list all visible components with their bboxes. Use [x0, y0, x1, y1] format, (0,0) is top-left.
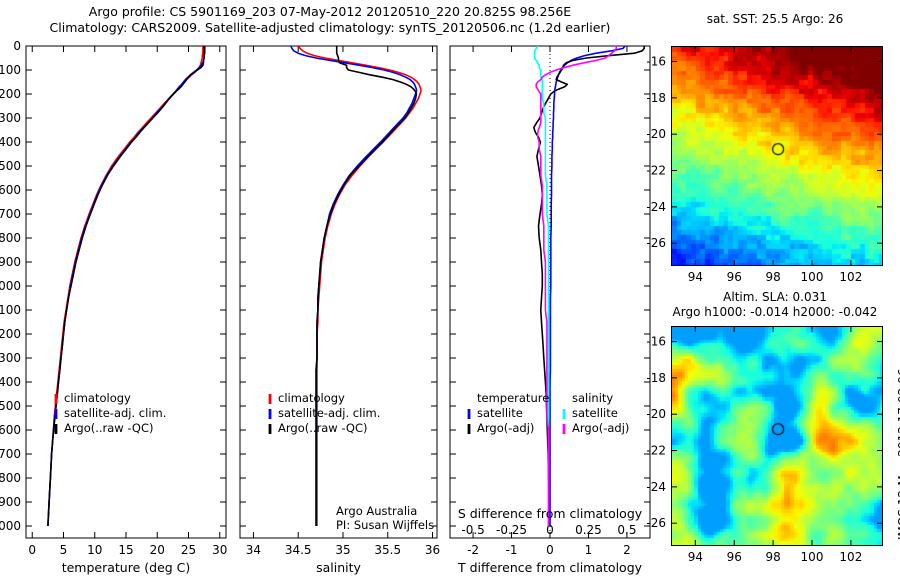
- argo-program-label: Argo Australia: [336, 504, 417, 518]
- temperature-plot: 0100200300400500600700800900100011001200…: [0, 38, 238, 580]
- salinity-panel: 3434.53535.536salinityclimatologysatelli…: [228, 38, 450, 580]
- salinity-plot: 3434.53535.536salinityclimatologysatelli…: [228, 38, 450, 580]
- temperature-frame: [26, 46, 226, 538]
- difference-plot: -2-1012-0.5-0.2500.250.5T difference fro…: [440, 38, 670, 580]
- lon-tick-label: 94: [688, 270, 703, 284]
- difference-secondary-tick-label: -0.5: [461, 523, 484, 537]
- salinity-tick-label: 35: [335, 543, 350, 557]
- depth-tick-label: 400: [0, 135, 21, 149]
- depth-tick-label: 1100: [0, 303, 21, 317]
- series-salinity-argo-raw-qc-: [316, 46, 416, 526]
- legend-label: Argo(..raw -QC): [64, 421, 154, 435]
- legend-label: satellite: [572, 406, 618, 420]
- lat-tick-label: -24: [646, 200, 666, 214]
- legend-title: salinity: [572, 391, 613, 405]
- difference-tick-label: 1: [585, 543, 593, 557]
- lat-tick-label: -22: [646, 164, 666, 178]
- difference-tick-label: 0: [546, 543, 554, 557]
- temperature-tick-label: 30: [212, 543, 227, 557]
- depth-tick-label: 1400: [0, 375, 21, 389]
- depth-tick-label: 2000: [0, 519, 21, 533]
- difference-secondary-tick-label: -0.25: [496, 523, 527, 537]
- depth-tick-label: 1900: [0, 495, 21, 509]
- page-title: Argo profile: CS 5901169_203 07-May-2012…: [0, 4, 660, 36]
- legend-label: climatology: [278, 391, 345, 405]
- depth-tick-label: 1700: [0, 447, 21, 461]
- argo-pi-label: PI: Susan Wijffels: [336, 518, 434, 532]
- depth-tick-label: 200: [0, 87, 21, 101]
- sst-map-axes: 949698100102-16-18-20-22-24-26: [640, 30, 900, 290]
- depth-tick-label: 700: [0, 207, 21, 221]
- salinity-tick-label: 35.5: [374, 543, 401, 557]
- title-line-2: Climatology: CARS2009. Satellite-adjuste…: [0, 20, 660, 36]
- temperature-tick-label: 5: [60, 543, 68, 557]
- sla-title-line-1: Altim. SLA: 0.031: [655, 290, 895, 305]
- difference-secondary-tick-label: 0.5: [617, 523, 636, 537]
- difference-panel: -2-1012-0.5-0.2500.250.5T difference fro…: [440, 38, 670, 580]
- legend-label: climatology: [64, 391, 131, 405]
- series-t-difference-satellite: [550, 46, 625, 526]
- lat-tick-label: -22: [646, 444, 666, 458]
- lat-tick-label: -18: [646, 91, 666, 105]
- lat-tick-label: -26: [646, 516, 666, 530]
- lon-tick-label: 94: [688, 550, 703, 564]
- lat-tick-label: -16: [646, 55, 666, 69]
- salinity-tick-label: 34.5: [285, 543, 312, 557]
- legend-label: satellite: [477, 406, 523, 420]
- difference-secondary-axis-label: S difference from climatology: [458, 506, 643, 521]
- salinity-frame: [240, 46, 437, 538]
- lat-tick-label: -24: [646, 480, 666, 494]
- lat-tick-label: -18: [646, 371, 666, 385]
- lat-tick-label: -20: [646, 407, 666, 421]
- lon-tick-label: 98: [765, 550, 780, 564]
- lat-tick-label: -20: [646, 127, 666, 141]
- lon-tick-label: 96: [727, 550, 742, 564]
- depth-tick-label: 500: [0, 159, 21, 173]
- legend-label: Argo(-adj): [477, 421, 534, 435]
- legend-label: Argo(-adj): [572, 421, 629, 435]
- temperature-tick-label: 0: [28, 543, 36, 557]
- depth-tick-label: 1800: [0, 471, 21, 485]
- series-temperature-argo-raw-qc-: [48, 46, 204, 526]
- depth-tick-label: 600: [0, 183, 21, 197]
- legend-label: Argo(..raw -QC): [278, 421, 368, 435]
- difference-tick-label: -2: [467, 543, 479, 557]
- temperature-tick-label: 25: [181, 543, 196, 557]
- sla-map-axes: 949698100102-16-18-20-22-24-26: [640, 310, 900, 570]
- lon-tick-label: 100: [801, 270, 824, 284]
- difference-tick-label: 2: [623, 543, 631, 557]
- difference-secondary-tick-label: 0.25: [575, 523, 602, 537]
- lon-tick-label: 102: [839, 270, 862, 284]
- salinity-tick-label: 34: [246, 543, 261, 557]
- lon-tick-label: 96: [727, 270, 742, 284]
- temperature-tick-label: 20: [150, 543, 165, 557]
- depth-tick-label: 1600: [0, 423, 21, 437]
- imos-timestamp: IMOS 12-May-2012 17:02:06: [896, 368, 900, 540]
- depth-tick-label: 800: [0, 231, 21, 245]
- lon-tick-label: 98: [765, 270, 780, 284]
- temperature-tick-label: 15: [118, 543, 133, 557]
- lat-tick-label: -16: [646, 335, 666, 349]
- series-salinity-satellite-adj-clim-: [291, 46, 416, 526]
- depth-tick-label: 0: [13, 39, 21, 53]
- difference-axis-label: T difference from climatology: [457, 560, 643, 575]
- temperature-panel: 0100200300400500600700800900100011001200…: [0, 38, 238, 580]
- legend-label: satellite-adj. clim.: [64, 406, 166, 420]
- sst-map-title: sat. SST: 25.5 Argo: 26: [660, 12, 890, 27]
- lon-tick-label: 100: [801, 550, 824, 564]
- lat-tick-label: -26: [646, 236, 666, 250]
- legend-title: temperature: [477, 391, 549, 405]
- salinity-tick-label: 36: [425, 543, 440, 557]
- depth-tick-label: 1200: [0, 327, 21, 341]
- depth-tick-label: 1300: [0, 351, 21, 365]
- temperature-axis-label: temperature (deg C): [62, 560, 191, 575]
- lon-tick-label: 102: [839, 550, 862, 564]
- salinity-axis-label: salinity: [316, 560, 361, 575]
- depth-tick-label: 300: [0, 111, 21, 125]
- depth-tick-label: 1000: [0, 279, 21, 293]
- difference-tick-label: -1: [506, 543, 518, 557]
- legend-label: satellite-adj. clim.: [278, 406, 380, 420]
- temperature-tick-label: 10: [87, 543, 102, 557]
- title-line-1: Argo profile: CS 5901169_203 07-May-2012…: [0, 4, 660, 20]
- depth-tick-label: 1500: [0, 399, 21, 413]
- depth-tick-label: 100: [0, 63, 21, 77]
- depth-tick-label: 900: [0, 255, 21, 269]
